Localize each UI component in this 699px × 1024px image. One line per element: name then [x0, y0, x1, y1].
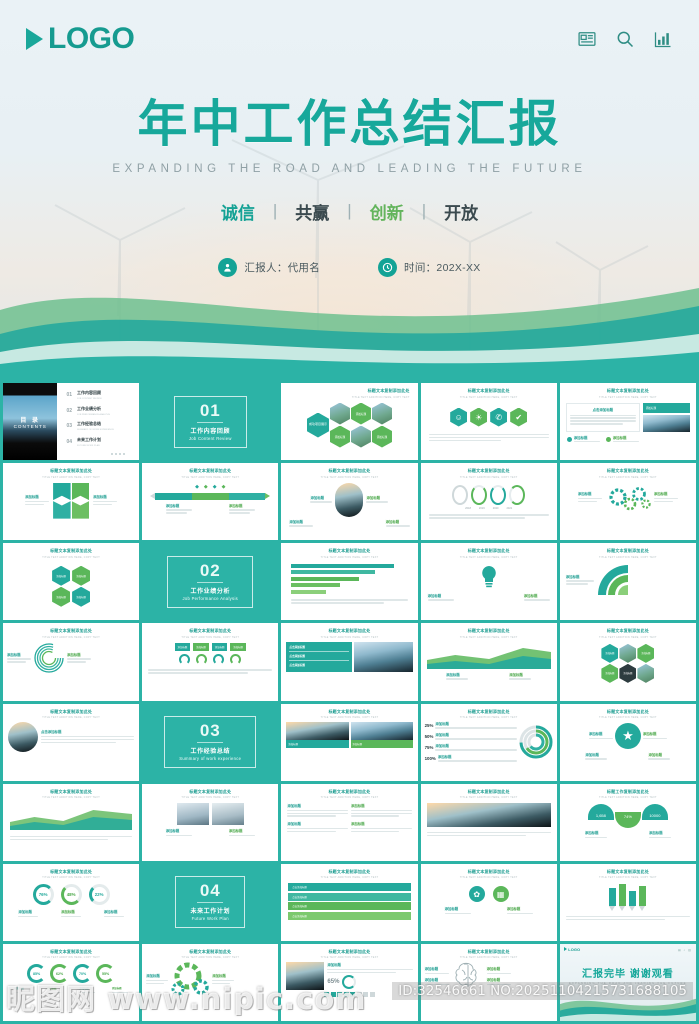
- hexagon-image: [372, 403, 392, 425]
- bullet-title: 添加标题: [574, 435, 600, 440]
- hexagon-badge: 成功项目展示: [307, 413, 329, 438]
- thumb-contents[interactable]: 目 录 CONTENTS 01 工作内容回顾JOB CONTENT REVIEW…: [3, 383, 139, 460]
- slide-header-en: TITLE TEXT ADDITION HERE, COPY TEXT: [560, 476, 696, 479]
- thumb-big-gears[interactable]: 标题文本复制添加此处 TITLE TEXT ADDITION HERE, COP…: [142, 944, 278, 1021]
- slide-photo: [177, 803, 209, 825]
- pencil-bars: [560, 884, 696, 911]
- logo-triangle-icon: [564, 947, 567, 951]
- slide-header-en: TITLE TEXT ADDITION HERE, COPY TEXT: [421, 876, 557, 879]
- section-title-en: Job Content Review: [189, 436, 232, 441]
- contents-list: 01 工作内容回顾JOB CONTENT REVIEW 02 工作业绩分析JOB…: [57, 383, 139, 460]
- gears-icon: [605, 483, 651, 513]
- slide-header-cn: 标题文本复制添加此处: [3, 628, 139, 634]
- slide-header-cn: 标题文本复制添加此处: [421, 869, 557, 875]
- toc-number: 03: [66, 423, 72, 429]
- contents-title-cn: 目 录: [20, 415, 40, 424]
- percent-value: 70%: [79, 972, 86, 976]
- slide-thumbnail-grid: 目 录 CONTENTS 01 工作内容回顾JOB CONTENT REVIEW…: [0, 378, 699, 1024]
- slide-header-cn: 标题文本复制添加此处: [560, 628, 696, 634]
- thumb-three-percent-donuts[interactable]: 标题文本复制添加此处 TITLE TEXT ADDITION HERE, COP…: [3, 864, 139, 941]
- step-row: 点击添加标题: [288, 883, 410, 891]
- caption: 添加标题: [67, 652, 91, 657]
- caption: 添加标题: [507, 906, 533, 911]
- list-title: 点击添加标题: [289, 654, 348, 658]
- slide-header-cn: 标题文本复制添加此处: [3, 869, 139, 875]
- caption: 添加标题: [425, 966, 449, 971]
- slide-header: 标题文本复制添加此处 TITLE TEXT ADDITION HERE, COP…: [142, 944, 278, 960]
- hexagon-badge: 添加标题: [72, 566, 90, 586]
- hexagon-image: [330, 403, 350, 425]
- slide-photo: [335, 483, 363, 517]
- hexagon-badge: 添加标题: [52, 566, 70, 586]
- slide-header: 标题文本复制添加此处 TITLE TEXT ADDITION HERE, COP…: [421, 543, 557, 559]
- bar-chart-icon[interactable]: [653, 29, 673, 49]
- divider: [197, 582, 223, 583]
- slide-header: 标题文本复制添加此处 TITLE TEXT ADDITION HERE, COP…: [560, 383, 696, 399]
- slide-photo: [643, 415, 690, 432]
- slide-header-cn: 标题文本复制添加此处: [421, 789, 557, 795]
- thumb-people-photos[interactable]: 标题文本复制添加此处 TITLE TEXT ADDITION HERE, COP…: [142, 784, 278, 861]
- hexagon-badge: 添加标题: [330, 426, 350, 448]
- fan-diagram-icon: [596, 563, 646, 597]
- slide-header-cn: 标题文本复制添加此处: [281, 869, 417, 875]
- thumb-arrow-steps[interactable]: 标题文本复制添加此处 TITLE TEXT ADDITION HERE, COP…: [281, 864, 417, 941]
- hexagon-badge: 添加标题: [52, 587, 70, 607]
- caption: 添加标题: [446, 672, 468, 677]
- section-title-cn: 工作经验总结: [179, 746, 241, 755]
- step-title: 添加标题: [229, 503, 255, 508]
- slide-header-cn: 标题文本复制添加此处: [142, 468, 278, 474]
- caption: 添加标题: [566, 574, 594, 579]
- caption: 添加标题: [351, 803, 412, 808]
- slide-header-cn: 标题文本复制添加此处: [281, 628, 417, 634]
- caption: 添加标题: [287, 821, 348, 826]
- hexagon-badge: 添加标题: [619, 664, 636, 683]
- thumb-bar-list[interactable]: 标题文本复制添加此处 TITLE TEXT ADDITION HERE, COP…: [281, 543, 417, 620]
- slide-header-cn: 标题文本复制添加此处: [3, 789, 139, 795]
- caption: 添加标题: [648, 752, 670, 757]
- thumb-circular-photo[interactable]: 标题文本复制添加此处 TITLE TEXT ADDITION HERE, COP…: [281, 463, 417, 540]
- slide-header-en: TITLE TEXT ADDITION HERE, COPY TEXT: [281, 396, 409, 399]
- slide-header-cn: 标题文本复制添加此处: [281, 949, 417, 955]
- caption: 添加标题: [112, 986, 128, 990]
- slide-header-en: TITLE TEXT ADDITION HERE, COPY TEXT: [142, 476, 278, 479]
- id-watermark: ID:32546661 NO:20251104215731688105: [392, 982, 693, 1000]
- percent-value: 65%: [327, 979, 339, 985]
- thumb-progress-rings[interactable]: 标题文本复制添加此处 TITLE TEXT ADDITION HERE, COP…: [421, 704, 557, 781]
- hexagon-badge: 添加标题: [72, 587, 90, 607]
- thumb-four-badge-icons[interactable]: 标题文本复制添加此处 TITLE TEXT ADDITION HERE, COP…: [142, 623, 278, 700]
- thumb-teal-list-photo[interactable]: 标题文本复制添加此处 TITLE TEXT ADDITION HERE, COP…: [281, 623, 417, 700]
- percent-value: 100%: [425, 756, 436, 761]
- slide-photo: [8, 722, 38, 752]
- caption: 添加标题: [585, 830, 607, 835]
- caption: 添加标题: [61, 909, 81, 914]
- slide-header-cn: 标题文本复制添加此处: [142, 628, 278, 634]
- year-label: 2021: [506, 507, 512, 510]
- caption: 添加标题: [509, 672, 531, 677]
- caption: 添加标题: [212, 973, 234, 978]
- caption: 添加标题: [166, 828, 192, 833]
- quadrant-label: 添加标题: [93, 494, 117, 499]
- caption: 添加标题: [47, 986, 63, 990]
- arc-percent-group: 85% 62% 70% 55%: [3, 964, 139, 983]
- thumb-four-quadrant[interactable]: 标题文本复制添加此处 TITLE TEXT ADDITION HERE, COP…: [3, 463, 139, 540]
- donut-chart-group: [421, 485, 557, 505]
- slide-header: 标题文本复制添加此处 TITLE TEXT ADDITION HERE, COP…: [281, 463, 417, 479]
- thumb-hex-dark-grid[interactable]: 标题文本复制添加此处 TITLE TEXT ADDITION HERE, COP…: [560, 623, 696, 700]
- slide-header: 标题文本复制添加此处 TITLE TEXT ADDITION HERE, COP…: [560, 623, 696, 639]
- toc-number: 02: [66, 408, 72, 414]
- final-title: 汇报完毕 谢谢观看: [560, 965, 696, 980]
- thumb-section-04[interactable]: 04 未来工作计划 Future Work Plan: [142, 864, 278, 941]
- thumb-wind-photo-circle[interactable]: 标题文本复制添加此处 TITLE TEXT ADDITION HERE, COP…: [3, 704, 139, 781]
- thumb-section-03[interactable]: 03 工作经验总结 Summary of work experience: [142, 704, 278, 781]
- slide-header: 标题文本复制添加此处 TITLE TEXT ADDITION HERE, COP…: [281, 543, 417, 559]
- section-title-cn: 工作内容回顾: [189, 426, 232, 435]
- contents-cover-image: 目 录 CONTENTS: [3, 383, 57, 460]
- divider: [197, 902, 223, 903]
- list-item[interactable]: 03 工作经验总结SUMMARY OF WORK EXPERIENCE: [66, 421, 131, 431]
- lightbulb-icon: [478, 564, 500, 590]
- slide-header: 标题文本复制添加此处 TITLE TEXT ADDITION HERE, COP…: [421, 784, 557, 800]
- toc-label-en: FUTURE WORK PLAN: [77, 445, 100, 447]
- thumb-line-area-green[interactable]: 标题文本复制添加此处 TITLE TEXT ADDITION HERE, COP…: [3, 784, 139, 861]
- logo[interactable]: LOGO: [26, 22, 134, 56]
- thumb-wind-cards[interactable]: 标题文本复制添加此处 TITLE TEXT ADDITION HERE, COP…: [281, 704, 417, 781]
- thumb-section-02[interactable]: 02 工作业绩分析 Job Performance Analysis: [142, 543, 278, 620]
- cover-header-icons: [577, 29, 673, 49]
- kpi-card: 1,658: [588, 804, 614, 820]
- page-title: 年中工作总结汇报: [138, 98, 562, 151]
- list-item[interactable]: 01 工作内容回顾JOB CONTENT REVIEW: [66, 390, 131, 400]
- slide-header-en: TITLE TEXT ADDITION HERE, COPY TEXT: [560, 556, 696, 559]
- chart-icon: ▦: [493, 886, 509, 902]
- arc-icon-group: [142, 654, 278, 665]
- percent-value: 48%: [67, 892, 76, 897]
- slide-header-en: TITLE TEXT ADDITION HERE, COPY TEXT: [560, 876, 696, 879]
- slide-header: 标题文本复制添加此处 TITLE TEXT ADDITION HERE, COP…: [421, 463, 557, 479]
- caption: 添加标题: [287, 803, 348, 808]
- slide-header-cn: 标题文本复制添加此处: [421, 628, 557, 634]
- step-row: 点击添加标题: [288, 902, 410, 910]
- hexagon-badge: 添加标题: [351, 403, 371, 425]
- percent-value: 22%: [95, 892, 104, 897]
- thumb-lightbulb[interactable]: 标题文本复制添加此处 TITLE TEXT ADDITION HERE, COP…: [421, 543, 557, 620]
- slide-header: 标题文本复制添加此处 TITLE TEXT ADDITION HERE, COP…: [3, 704, 139, 720]
- percent-value: 62%: [56, 972, 63, 976]
- thumb-pencils-infographic[interactable]: 标题文本复制添加此处 TITLE TEXT ADDITION HERE, COP…: [560, 864, 696, 941]
- slide-header-en: TITLE TEXT ADDITION HERE, COPY TEXT: [3, 556, 139, 559]
- hexagon-badge: 添加标题: [601, 664, 618, 683]
- slide-header: 标题文本复制添加此处 TITLE TEXT ADDITION HERE, COP…: [3, 463, 139, 479]
- thumb-area-chart[interactable]: 标题文本复制添加此处 TITLE TEXT ADDITION HERE, COP…: [421, 623, 557, 700]
- list-title: 点击添加标题: [289, 645, 348, 649]
- slide-header-en: TITLE TEXT ADDITION HERE, COPY TEXT: [421, 476, 557, 479]
- caption: 添加标题: [79, 986, 95, 990]
- thumb-four-donut-years[interactable]: 标题文本复制添加此处 TITLE TEXT ADDITION HERE, COP…: [421, 463, 557, 540]
- thumb-four-percent-arcs[interactable]: 标题文本复制添加此处 TITLE TEXT ADDITION HERE, COP…: [3, 944, 139, 1021]
- slide-header: 标题文本复制添加此处 TITLE TEXT ADDITION HERE, COP…: [421, 623, 557, 639]
- slide-header: 标题文本复制添加此处 TITLE TEXT ADDITION HERE, COP…: [421, 944, 557, 960]
- news-icon[interactable]: [577, 29, 597, 49]
- caption: 添加标题: [428, 593, 454, 598]
- caption: 添加标题: [14, 986, 30, 990]
- year-label: 2020: [493, 507, 499, 510]
- thumb-section-01[interactable]: 01 工作内容回顾 Job Content Review: [142, 383, 278, 460]
- slide-photo: [212, 803, 244, 825]
- caption: 添加标题: [578, 491, 602, 496]
- toc-label-cn: 工作内容回顾: [77, 390, 101, 395]
- slide-header: 标题文本复制添加此处 TITLE TEXT ADDITION HERE, COP…: [3, 623, 139, 639]
- card-label: 添加标题: [351, 740, 413, 748]
- card-label: 添加标题: [286, 740, 348, 748]
- caption: 添加标题: [585, 752, 607, 757]
- thumb-hexagon-showcase[interactable]: 标题文本复制添加此处 TITLE TEXT ADDITION HERE, COP…: [281, 383, 417, 460]
- toc-number: 04: [66, 439, 72, 445]
- caption: 添加标题: [386, 519, 410, 524]
- divider: [197, 742, 223, 743]
- caption: 添加标题: [524, 593, 550, 598]
- section-card: 02 工作业绩分析 Job Performance Analysis: [167, 556, 253, 608]
- slide-photo: [427, 803, 551, 827]
- slide-photo: [286, 722, 348, 740]
- slide-header: 标题文本复制添加此处 TITLE TEXT ADDITION HERE, COP…: [142, 623, 278, 639]
- slide-header-cn: 标题文本复制添加此处: [560, 468, 696, 474]
- caption: 添加标题: [18, 909, 38, 914]
- slide-header-cn: 标题工作复制添加此处: [560, 789, 696, 795]
- slide-header-en: TITLE TEXT ADDITION HERE, COPY TEXT: [421, 796, 557, 799]
- badge: 添加标题: [230, 643, 246, 651]
- caption: 添加标题: [649, 830, 671, 835]
- hexagon-badge: 添加标题: [372, 426, 392, 448]
- hexagon-icon-2: ☀: [470, 408, 487, 427]
- hexagon-image: [637, 664, 654, 683]
- arrow-step-list: 点击添加标题 点击添加标题 点击添加标题 点击添加标题: [281, 879, 417, 920]
- green-wave-decoration: [0, 248, 699, 378]
- caption: 添加标题: [310, 495, 332, 500]
- slide-photo: [354, 642, 413, 672]
- thumb-pencil-timeline[interactable]: 标题文本复制添加此处 TITLE TEXT ADDITION HERE, COP…: [142, 463, 278, 540]
- slide-header-en: TITLE TEXT ADDITION HERE, COPY TEXT: [142, 796, 278, 799]
- slide-header: 标题文本复制添加此处 TITLE TEXT ADDITION HERE, COP…: [3, 784, 139, 800]
- hexagon-icon-4: ✔: [510, 408, 527, 427]
- gear-icon: ✿: [469, 886, 485, 902]
- hexagon-badge: 添加标题: [601, 644, 618, 663]
- thumb-hex-network[interactable]: 标题文本复制添加此处 TITLE TEXT ADDITION HERE, COP…: [3, 543, 139, 620]
- slide-header-en: TITLE TEXT ADDITION HERE, COPY TEXT: [142, 636, 278, 639]
- section-title-en: Future Work Plan: [190, 916, 230, 921]
- thumb-kpi-numbers[interactable]: 标题工作复制添加此处 TITLE TEXT ADDITION HERE, COP…: [560, 784, 696, 861]
- slide-header-cn: 标题文本复制添加此处: [281, 548, 417, 554]
- caption: 添加标题: [366, 495, 388, 500]
- section-title-en: Summary of work experience: [179, 756, 241, 761]
- section-title-en: Job Performance Analysis: [182, 596, 238, 601]
- badge: 添加标题: [175, 643, 191, 651]
- contents-title-en: CONTENTS: [14, 424, 47, 429]
- percent-value: 75%: [425, 745, 434, 750]
- section-title-cn: 工作业绩分析: [182, 586, 238, 595]
- pencil-graphic: [150, 493, 270, 500]
- core-values: 诚信 | 共赢 | 创新 | 开放: [203, 199, 496, 224]
- slide-header-cn: 标题文本复制添加此处: [3, 949, 139, 955]
- highlight-card: 添加标题: [643, 403, 690, 413]
- search-icon[interactable]: [615, 29, 635, 49]
- slide-header: 标题文本复制添加此处 TITLE TEXT ADDITION HERE, COP…: [142, 463, 278, 479]
- toc-number: 01: [66, 392, 72, 398]
- section-card: 03 工作经验总结 Summary of work experience: [164, 716, 256, 768]
- slide-header-en: TITLE TEXT ADDITION HERE, COPY TEXT: [421, 556, 557, 559]
- year-label: 2019: [479, 507, 485, 510]
- caption: 添加标题: [654, 491, 678, 496]
- page-subtitle: EXPANDING THE ROAD AND LEADING THE FUTUR…: [112, 163, 586, 175]
- donut-chart-group: 76% 48% 22%: [3, 884, 139, 905]
- logo-triangle-icon: [26, 28, 43, 50]
- section-card: 01 工作内容回顾 Job Content Review: [174, 396, 247, 448]
- slide-header-cn: 标题文本复制添加此处: [421, 709, 557, 715]
- section-number: 01: [189, 402, 232, 419]
- donut-chart: [342, 975, 356, 989]
- caption: 添加标题: [589, 731, 613, 736]
- slide-header: 标题文本复制添加此处 TITLE TEXT ADDITION HERE, COP…: [281, 383, 417, 399]
- star-icon: ★: [615, 723, 641, 749]
- slide-header-en: TITLE TEXT ADDITION HERE, COPY TEXT: [560, 796, 696, 799]
- screenshot-root: LOGO 年中工作: [0, 0, 699, 1024]
- concentric-ring-chart: [519, 725, 553, 759]
- slide-header: 标题文本复制添加此处 TITLE TEXT ADDITION HERE, COP…: [3, 864, 139, 880]
- step-row: 点击添加标题: [288, 893, 410, 901]
- cover-header: LOGO: [0, 0, 699, 78]
- slide-header-cn: 标题文本复制添加此处: [560, 709, 696, 715]
- step-title: 添加标题: [166, 503, 192, 508]
- thumb-text-blocks[interactable]: 标题文本复制添加此处 TITLE TEXT ADDITION HERE, COP…: [281, 784, 417, 861]
- section-card: 04 未来工作计划 Future Work Plan: [175, 876, 245, 928]
- step-row: 点击添加标题: [288, 912, 410, 920]
- percent-value: 55%: [102, 972, 109, 976]
- logo-text: LOGO: [48, 22, 134, 56]
- slide-header: 标题文本复制添加此处 TITLE TEXT ADDITION HERE, COP…: [281, 623, 417, 639]
- badge: 添加标题: [193, 643, 209, 651]
- caption: 添加标题: [351, 821, 412, 826]
- hexagon-image: [619, 644, 636, 663]
- slide-header-cn: 标题文本复制添加此处: [3, 468, 139, 474]
- slide-header-cn: 标题文本复制添加此处: [421, 949, 557, 955]
- slide-header: 标题文本复制添加此处 TITLE TEXT ADDITION HERE, COP…: [560, 543, 696, 559]
- slide-header-en: TITLE TEXT ADDITION HERE, COPY TEXT: [3, 476, 139, 479]
- toc-label-cn: 工作经验总结: [77, 421, 101, 426]
- slide-header-cn: 标题文本复制添加此处: [281, 388, 409, 394]
- slide-header: 标题文本复制添加此处 TITLE TEXT ADDITION HERE, COP…: [281, 864, 417, 880]
- slide-header-en: TITLE TEXT ADDITION HERE, COPY TEXT: [3, 956, 139, 959]
- list-item[interactable]: 02 工作业绩分析JOB PERFORMANCE ANALYSIS: [66, 406, 131, 416]
- line-chart: [10, 803, 132, 830]
- hexagon-badge: 添加标题: [637, 644, 654, 663]
- toc-label-cn: 工作业绩分析: [77, 406, 101, 411]
- caption: 添加标题: [289, 519, 313, 524]
- section-number: 04: [190, 882, 230, 899]
- divider: [197, 422, 223, 423]
- section-number: 02: [182, 562, 238, 579]
- slide-header: 标题文本复制添加此处 TITLE TEXT ADDITION HERE, COP…: [281, 704, 417, 720]
- thumb-text-image-split[interactable]: 标题文本复制添加此处 TITLE TEXT ADDITION HERE, COP…: [560, 383, 696, 460]
- slide-header-en: TITLE TEXT ADDITION HERE, COPY TEXT: [281, 476, 417, 479]
- caption: 添加标题: [435, 722, 449, 726]
- core-value-4: 开放: [426, 199, 496, 224]
- slide-header: 标题文本复制添加此处 TITLE TEXT ADDITION HERE, COP…: [3, 543, 139, 559]
- core-value-3: 创新: [352, 199, 422, 224]
- caption: 添加标题: [327, 962, 412, 967]
- area-chart: [427, 643, 551, 669]
- thumb-spiral-donut[interactable]: 标题文本复制添加此处 TITLE TEXT ADDITION HERE, COP…: [3, 623, 139, 700]
- thumb-star-icon[interactable]: 标题文本复制添加此处 TITLE TEXT ADDITION HERE, COP…: [560, 704, 696, 781]
- slide-header: 标题工作复制添加此处 TITLE TEXT ADDITION HERE, COP…: [560, 784, 696, 800]
- hexagon-icon-1: ☺: [450, 408, 467, 427]
- thumb-hexagon-icons-row[interactable]: 标题文本复制添加此处 TITLE TEXT ADDITION HERE, COP…: [421, 383, 557, 460]
- quadrant-diagram: [53, 483, 89, 519]
- percent-value: 76%: [39, 892, 48, 897]
- bullet-title: 添加标题: [613, 435, 639, 440]
- slide-header: 标题文本复制添加此处 TITLE TEXT ADDITION HERE, COP…: [421, 704, 557, 720]
- toc-label-en: JOB PERFORMANCE ANALYSIS: [77, 414, 110, 416]
- kpi-card: 74%: [615, 812, 641, 828]
- final-header-icons: ▤ ⌕ ▥: [678, 948, 692, 952]
- thumb-icon-pair[interactable]: 标题文本复制添加此处 TITLE TEXT ADDITION HERE, COP…: [421, 864, 557, 941]
- slide-header-cn: 标题文本复制添加此处: [142, 789, 278, 795]
- thumb-gears[interactable]: 标题文本复制添加此处 TITLE TEXT ADDITION HERE, COP…: [560, 463, 696, 540]
- section-title-cn: 未来工作计划: [190, 906, 230, 915]
- text-card-title: 点击添加标题: [570, 407, 636, 412]
- slide-header: 标题文本复制添加此处 TITLE TEXT ADDITION HERE, COP…: [281, 784, 417, 800]
- slide-header: 标题文本复制添加此处 TITLE TEXT ADDITION HERE, COP…: [560, 864, 696, 880]
- slide-header-cn: 标题文本复制添加此处: [560, 388, 696, 394]
- slide-header-cn: 标题文本复制添加此处: [560, 869, 696, 875]
- gears-icon: [170, 961, 210, 997]
- slide-header-en: TITLE TEXT ADDITION HERE, COPY TEXT: [3, 876, 139, 879]
- slide-header: 标题文本复制添加此处 TITLE TEXT ADDITION HERE, COP…: [281, 944, 417, 960]
- percent-value: 25%: [425, 723, 434, 728]
- quadrant-label: 添加标题: [25, 494, 49, 499]
- slide-header-cn: 标题文本复制添加此处: [421, 388, 557, 394]
- final-logo: LOGO: [564, 947, 580, 952]
- slide-header-cn: 标题文本复制添加此处: [281, 709, 417, 715]
- caption: 添加标题: [229, 828, 255, 833]
- caption: 添加标题: [643, 731, 667, 736]
- slide-header-en: TITLE TEXT ADDITION HERE, COPY TEXT: [560, 716, 696, 719]
- slide-header-cn: 标题文本复制添加此处: [281, 468, 417, 474]
- slide-header-cn: 标题文本复制添加此处: [421, 468, 557, 474]
- list-title: 点击添加标题: [289, 663, 348, 667]
- slide-header: 标题文本复制添加此处 TITLE TEXT ADDITION HERE, COP…: [3, 944, 139, 960]
- section-number: 03: [179, 722, 241, 739]
- kpi-card: 10000: [642, 804, 668, 820]
- caption: 点击添加标题: [41, 729, 134, 734]
- caption: 添加标题: [7, 652, 31, 657]
- slide-header: 标题文本复制添加此处 TITLE TEXT ADDITION HERE, COP…: [560, 463, 696, 479]
- logo-text: LOGO: [568, 947, 580, 952]
- core-value-2: 共赢: [277, 199, 347, 224]
- slide-header-cn: 标题文本复制添加此处: [3, 709, 139, 715]
- hexagon-image: [351, 426, 371, 448]
- list-item[interactable]: 04 未来工作计划FUTURE WORK PLAN: [66, 437, 131, 447]
- slide-photo: [351, 722, 413, 740]
- thumb-wide-photo[interactable]: 标题文本复制添加此处 TITLE TEXT ADDITION HERE, COP…: [421, 784, 557, 861]
- slide-photo: [286, 962, 324, 990]
- caption: 添加标题: [438, 755, 452, 759]
- thumb-fan-diagram[interactable]: 标题文本复制添加此处 TITLE TEXT ADDITION HERE, COP…: [560, 543, 696, 620]
- caption: 添加标题: [445, 906, 471, 911]
- cover-slide: LOGO 年中工作: [0, 0, 699, 378]
- caption: 添加标题: [487, 966, 511, 971]
